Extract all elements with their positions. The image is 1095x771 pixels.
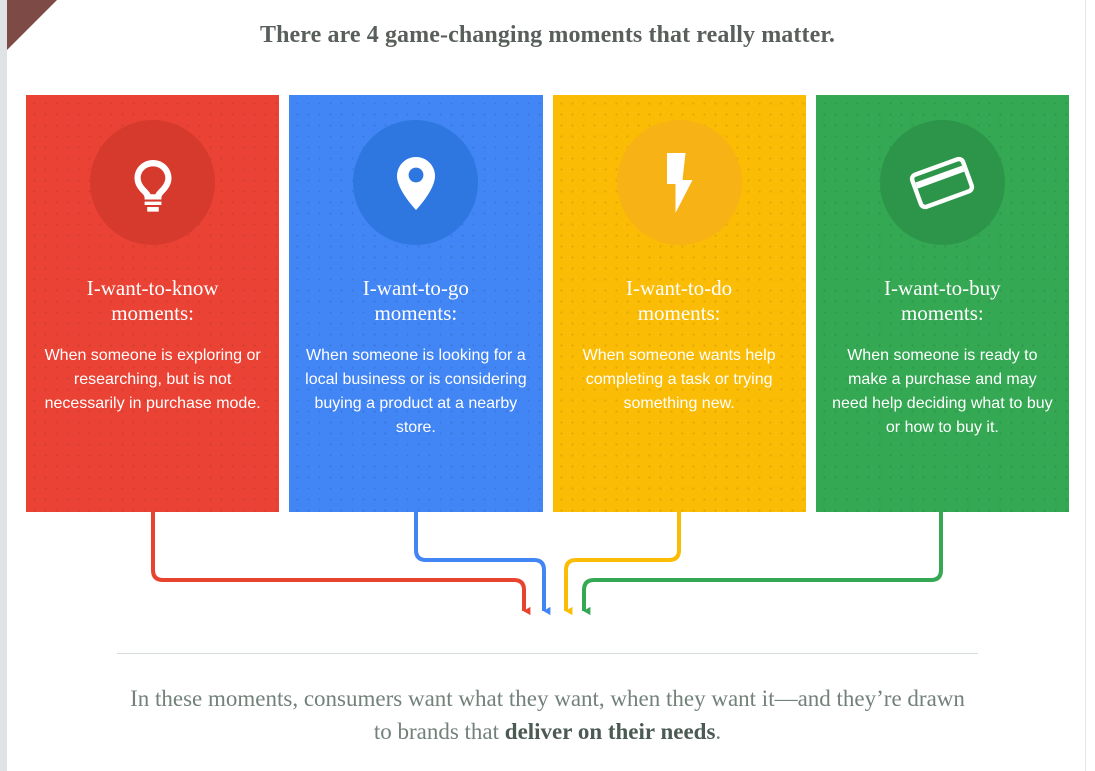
card-title-i-want-to-know: I-want-to-know moments: bbox=[77, 276, 229, 326]
card-body-i-want-to-go: When someone is looking for a local busi… bbox=[289, 344, 542, 440]
card-title-i-want-to-go: I-want-to-go moments: bbox=[353, 276, 479, 326]
moment-cards-row: I-want-to-know moments: When someone is … bbox=[26, 95, 1069, 512]
moment-card-i-want-to-buy[interactable]: I-want-to-buy moments: When someone is r… bbox=[816, 95, 1069, 512]
credit-card-icon bbox=[906, 152, 978, 214]
moment-card-i-want-to-go[interactable]: I-want-to-go moments: When someone is lo… bbox=[289, 95, 542, 512]
footer-statement: In these moments, consumers want what th… bbox=[130, 682, 965, 748]
icon-circle-i-want-to-know bbox=[90, 120, 215, 245]
page-left-edge-strip bbox=[0, 0, 7, 771]
card-body-i-want-to-know: When someone is exploring or researching… bbox=[26, 344, 279, 416]
page-right-edge-line bbox=[1085, 0, 1086, 771]
page-title: There are 4 game-changing moments that r… bbox=[0, 22, 1095, 49]
icon-circle-i-want-to-go bbox=[353, 120, 478, 245]
location-pin-icon bbox=[388, 152, 444, 214]
moment-card-i-want-to-know[interactable]: I-want-to-know moments: When someone is … bbox=[26, 95, 279, 512]
icon-circle-i-want-to-buy bbox=[880, 120, 1005, 245]
footer-divider bbox=[117, 653, 978, 654]
infographic-page: There are 4 game-changing moments that r… bbox=[0, 0, 1095, 771]
moment-card-i-want-to-do[interactable]: I-want-to-do moments: When someone wants… bbox=[553, 95, 806, 512]
card-title-i-want-to-do: I-want-to-do moments: bbox=[616, 276, 742, 326]
card-body-i-want-to-buy: When someone is ready to make a purchase… bbox=[816, 344, 1069, 440]
lightning-bolt-icon bbox=[655, 150, 703, 216]
footer-tail-text: . bbox=[715, 719, 721, 744]
icon-circle-i-want-to-do bbox=[617, 120, 742, 245]
card-body-i-want-to-do: When someone wants help completing a tas… bbox=[553, 344, 806, 416]
connector-arrows bbox=[0, 505, 1095, 635]
lightbulb-icon bbox=[122, 152, 184, 214]
footer-emphasis-text: deliver on their needs bbox=[505, 719, 716, 744]
card-title-i-want-to-buy: I-want-to-buy moments: bbox=[874, 276, 1011, 326]
